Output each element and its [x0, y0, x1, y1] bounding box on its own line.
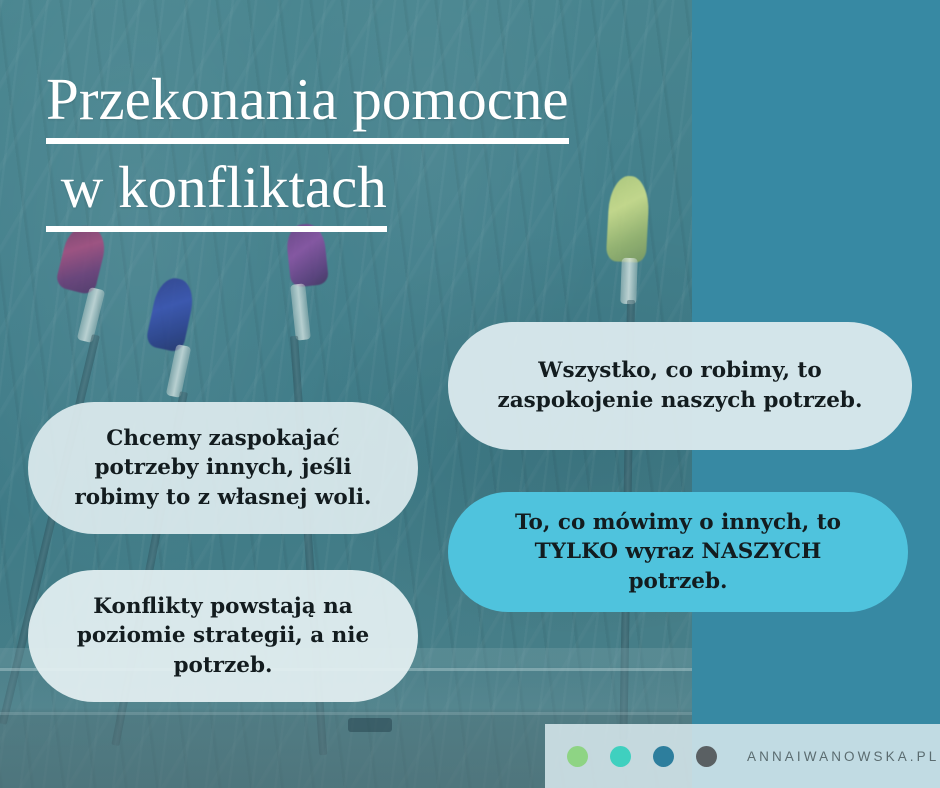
dot-mint-icon — [610, 746, 631, 767]
pole-grip-4 — [620, 258, 638, 305]
floor-line-2 — [0, 712, 692, 715]
dot-gray-icon — [696, 746, 717, 767]
footer-bar: ANNAIWANOWSKA.PL — [545, 724, 940, 788]
title-line-2: w konfliktach — [46, 150, 856, 232]
dot-teal-icon — [653, 746, 674, 767]
belief-card-4-text: To, co mówimy o innych, to TYLKO wyraz N… — [484, 508, 872, 597]
belief-card-4: To, co mówimy o innych, to TYLKO wyraz N… — [448, 492, 908, 612]
brand-dots — [567, 746, 717, 767]
dot-green-icon — [567, 746, 588, 767]
belief-card-2-text: Konflikty powstają na poziomie strategii… — [62, 592, 384, 681]
belief-card-1: Chcemy zaspokajać potrzeby innych, jeśli… — [28, 402, 418, 534]
page-title: Przekonania pomocne w konfliktach — [46, 62, 856, 233]
belief-card-3-text: Wszystko, co robimy, to zaspokojenie nas… — [492, 356, 868, 415]
title-line-1: Przekonania pomocne — [46, 62, 856, 144]
belief-card-3: Wszystko, co robimy, to zaspokojenie nas… — [448, 322, 912, 450]
website-label: ANNAIWANOWSKA.PL — [747, 749, 939, 764]
belief-card-1-text: Chcemy zaspokajać potrzeby innych, jeśli… — [62, 424, 384, 513]
floor-object-shadow — [348, 718, 392, 732]
belief-card-2: Konflikty powstają na poziomie strategii… — [28, 570, 418, 702]
poster-canvas: Przekonania pomocne w konfliktach Chcemy… — [0, 0, 940, 788]
